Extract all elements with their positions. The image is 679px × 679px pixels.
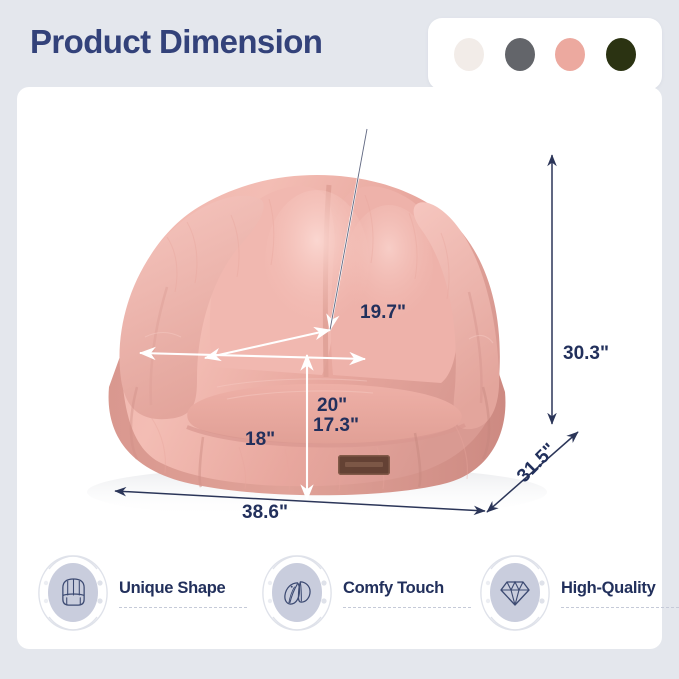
swatch-pink[interactable] [555,38,585,71]
color-swatch-card [428,18,662,90]
feature-text-high-quality: High-Quality [561,579,679,608]
feature-bar: Unique Shape C [17,537,662,649]
feature-label-high-quality: High-Quality [561,579,679,598]
feature-comfy-touch[interactable]: Comfy Touch [259,555,471,631]
page-title: Product Dimension [30,23,322,61]
feature-label-comfy-touch: Comfy Touch [343,579,471,598]
brand-tag [338,455,390,475]
feature-badge-comfy-touch [259,555,335,631]
feature-unique-shape[interactable]: Unique Shape [35,555,247,631]
feature-divider [119,607,247,608]
feature-divider [561,607,679,608]
feature-label-unique-shape: Unique Shape [119,579,247,598]
product-image-card [17,87,662,537]
swatch-cream[interactable] [454,38,484,71]
feature-high-quality[interactable]: High-Quality [477,555,679,631]
color-swatch-row [428,18,662,90]
feature-badge-high-quality [477,555,553,631]
leaf-icon [282,578,313,607]
diamond-icon [500,579,530,607]
feature-badge-unique-shape [35,555,111,631]
armchair-icon [59,577,88,608]
feature-text-comfy-touch: Comfy Touch [343,579,471,608]
swatch-dark-gray[interactable] [505,38,535,71]
brand-tag-embossed-text [345,462,383,467]
feature-text-unique-shape: Unique Shape [119,579,247,608]
header: Product Dimension [0,0,679,87]
feature-divider [343,607,471,608]
swatch-dark-green[interactable] [606,38,636,71]
